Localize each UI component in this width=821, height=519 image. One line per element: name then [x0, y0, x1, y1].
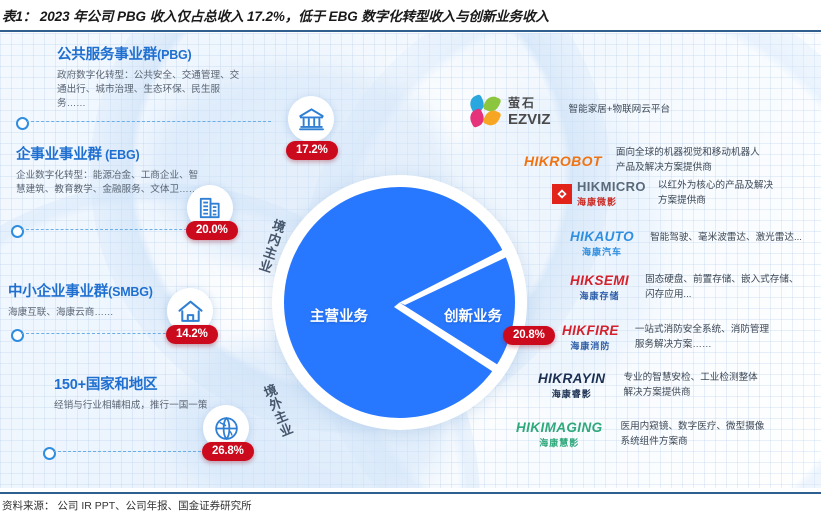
segment-overseas-desc: 经销与行业相辅相成，推行一国一策	[54, 399, 208, 413]
hikimaging-wordmark: HIKIMAGING	[516, 420, 603, 435]
ezviz-desc: 智能家居+物联网云平台	[569, 103, 671, 118]
bank-icon	[288, 96, 334, 142]
segment-pbg: 公共服务事业群(PBG) 政府数字化转型：公共安全、交通管理、交通出行、城市治理…	[57, 43, 242, 111]
hikmicro-wordmark-block: HIKMICRO 海康微影	[577, 179, 646, 208]
hiksemi-desc: 固态硬盘、前置存储、嵌入式存储、 闪存应用...	[645, 273, 799, 303]
segment-smbg-desc: 海康互联、海康云商……	[8, 306, 153, 320]
hikrayin-wordmark-block: HIKRAYIN 海康睿影	[538, 371, 605, 400]
hikauto-wordmark-block: HIKAUTO 海康汽车	[570, 229, 634, 258]
hikimaging-desc: 医用内窥镜、数字医疗、微型摄像 系统组件方案商	[621, 420, 765, 450]
pie-svg	[284, 187, 515, 418]
hiksemi-wordmark: HIKSEMI	[570, 273, 629, 288]
hikrobot-wordmark: HIKROBOT	[524, 153, 602, 169]
segment-ebg: 企事业事业群 (EBG) 企业数字化转型：能源冶金、工商企业、智慧建筑、教育教学…	[16, 143, 201, 197]
hikfire-cn-name: 海康消防	[570, 339, 610, 352]
pie-label-main-business: 主营业务	[310, 305, 368, 326]
badge-ebg-pct: 20.0%	[186, 221, 238, 240]
hikimaging-wordmark-block: HIKIMAGING 海康慧影	[516, 420, 603, 449]
leader-dot-overseas	[43, 447, 56, 460]
leader-line-pbg	[26, 121, 271, 123]
hikmicro-desc: 以红外为核心的产品及解决 方案提供商	[658, 179, 773, 209]
segment-ebg-title: 企事业事业群 (EBG)	[16, 143, 201, 164]
segment-pbg-title: 公共服务事业群(PBG)	[57, 43, 242, 64]
ezviz-cn-name: 萤石	[508, 94, 536, 111]
title-bar: 表1： 2023 年公司 PBG 收入仅占总收入 17.2%，低于 EBG 数字…	[0, 0, 821, 30]
segment-pbg-desc: 政府数字化转型：公共安全、交通管理、交通出行、城市治理、生态环保、民生服务……	[57, 69, 242, 111]
source-divider	[0, 492, 821, 494]
hiksemi-cn-name: 海康存储	[580, 289, 620, 302]
page-title: 表1： 2023 年公司 PBG 收入仅占总收入 17.2%，低于 EBG 数字…	[0, 5, 549, 25]
hikmicro-logo-icon	[552, 184, 572, 204]
brand-row-hikmicro: HIKMICRO 海康微影 以红外为核心的产品及解决 方案提供商	[552, 179, 773, 209]
segment-smbg-title: 中小企业事业群(SMBG)	[8, 280, 153, 301]
brand-row-hikfire: HIKFIRE 海康消防 一站式消防安全系统、消防管理 服务解决方案……	[562, 323, 769, 353]
hikauto-cn-name: 海康汽车	[582, 245, 622, 258]
leader-line-overseas	[53, 451, 211, 453]
hikmicro-wordmark: HIKMICRO	[577, 179, 646, 194]
figure-root: 表1： 2023 年公司 PBG 收入仅占总收入 17.2%，低于 EBG 数字…	[0, 0, 821, 519]
ezviz-wordmark-block: 萤石 EZVIZ	[508, 93, 551, 128]
brand-row-ezviz: 萤石 EZVIZ 智能家居+物联网云平台	[470, 93, 670, 128]
hikmicro-cn-name: 海康微影	[577, 195, 617, 208]
hikrayin-wordmark: HIKRAYIN	[538, 371, 605, 386]
ezviz-logo-icon	[470, 96, 504, 126]
segment-ebg-desc: 企业数字化转型：能源冶金、工商企业、智慧建筑、教育教学、金融服务、文体卫……	[16, 169, 201, 197]
hiksemi-wordmark-block: HIKSEMI 海康存储	[570, 273, 629, 302]
segment-overseas-title: 150+国家和地区	[54, 373, 208, 394]
infographic-canvas: 主营业务 创新业务 20.8% 境内主业 境外主业 公共服务事业群(PBG) 政…	[0, 33, 821, 488]
leader-dot-pbg	[16, 117, 29, 130]
hikrobot-desc: 面向全球的机器视觉和移动机器人 产品及解决方案提供商	[616, 146, 760, 176]
brand-row-hikrayin: HIKRAYIN 海康睿影 专业的智慧安检、工业检测整体 解决方案提供商	[538, 371, 758, 401]
leader-dot-smbg	[11, 329, 24, 342]
brand-row-hikrobot: HIKROBOT 面向全球的机器视觉和移动机器人 产品及解决方案提供商	[524, 146, 760, 176]
badge-overseas-pct: 26.8%	[202, 442, 254, 461]
ezviz-wordmark: EZVIZ	[508, 111, 551, 128]
leader-dot-ebg	[11, 225, 24, 238]
brand-row-hiksemi: HIKSEMI 海康存储 固态硬盘、前置存储、嵌入式存储、 闪存应用...	[570, 273, 799, 303]
source-text: 资料来源： 公司 IR PPT、公司年报、国金证券研究所	[2, 498, 252, 513]
pie-chart	[284, 187, 515, 418]
badge-pbg-pct: 17.2%	[286, 141, 338, 160]
title-divider	[0, 30, 821, 32]
hikfire-wordmark-block: HIKFIRE 海康消防	[562, 323, 619, 352]
pie-label-innovation-business: 创新业务	[444, 305, 502, 326]
leader-line-smbg	[21, 333, 176, 335]
hikrayin-cn-name: 海康睿影	[552, 387, 592, 400]
hikfire-desc: 一站式消防安全系统、消防管理 服务解决方案……	[635, 323, 769, 353]
badge-innovation-pct: 20.8%	[503, 326, 555, 345]
hikimaging-cn-name: 海康慧影	[539, 436, 579, 449]
badge-smbg-pct: 14.2%	[166, 325, 218, 344]
segment-smbg: 中小企业事业群(SMBG) 海康互联、海康云商……	[8, 280, 153, 320]
brand-row-hikimaging: HIKIMAGING 海康慧影 医用内窥镜、数字医疗、微型摄像 系统组件方案商	[516, 420, 764, 450]
brand-row-hikauto: HIKAUTO 海康汽车 智能驾驶、毫米波雷达、激光雷达...	[570, 229, 802, 258]
hikrayin-desc: 专业的智慧安检、工业检测整体 解决方案提供商	[623, 371, 757, 401]
leader-line-ebg	[21, 229, 197, 231]
hikauto-desc: 智能驾驶、毫米波雷达、激光雷达...	[650, 231, 802, 246]
hikfire-wordmark: HIKFIRE	[562, 323, 619, 338]
hikauto-wordmark: HIKAUTO	[570, 229, 634, 244]
ezviz-petal-orange	[482, 107, 501, 127]
segment-overseas: 150+国家和地区 经销与行业相辅相成，推行一国一策	[54, 373, 208, 413]
